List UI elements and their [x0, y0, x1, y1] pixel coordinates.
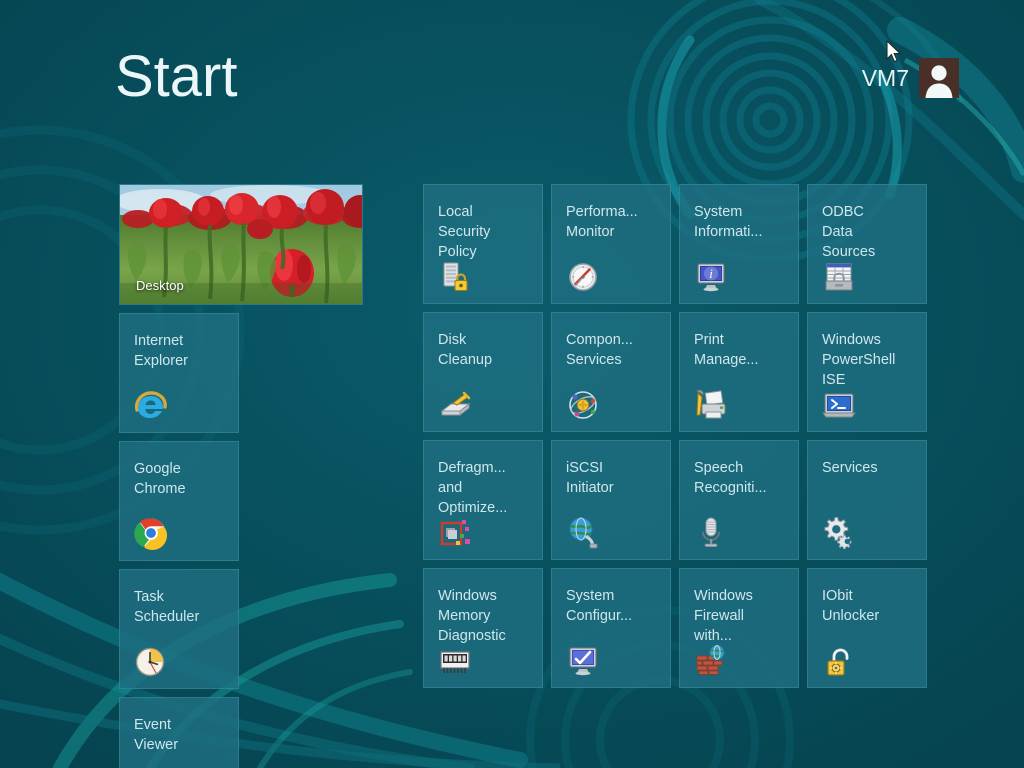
iscsi-initiator-icon	[566, 515, 600, 549]
print-management-icon	[694, 387, 728, 421]
tile-compon-services[interactable]: Compon...Services	[551, 312, 671, 432]
tile-odbc-data-sources[interactable]: ODBCDataSources	[807, 184, 927, 304]
tile-label: GoogleChrome	[134, 459, 230, 499]
local-security-policy-icon	[438, 259, 472, 293]
tile-label: SystemInformati...	[694, 202, 790, 242]
user-name-label: VM7	[862, 67, 909, 90]
tile-group-2: LocalSecurityPolicy Performa...Monitor S…	[423, 184, 935, 768]
google-chrome-icon	[134, 516, 168, 550]
powershell-ise-icon	[822, 387, 856, 421]
disk-cleanup-icon	[438, 387, 472, 421]
tile-label: TaskScheduler	[134, 587, 230, 627]
tile-speech-recogniti[interactable]: SpeechRecogniti...	[679, 440, 799, 560]
tile-label: Services	[822, 458, 918, 478]
tile-event-viewer[interactable]: EventViewer !	[119, 697, 239, 768]
tile-local-security-policy[interactable]: LocalSecurityPolicy	[423, 184, 543, 304]
tile-task-scheduler[interactable]: TaskScheduler	[119, 569, 239, 689]
performance-monitor-gauge-icon	[566, 259, 600, 293]
tile-label: SpeechRecogniti...	[694, 458, 790, 498]
odbc-data-sources-icon	[822, 259, 856, 293]
tile-performa-monitor[interactable]: Performa...Monitor	[551, 184, 671, 304]
tile-windows-firewall-with[interactable]: WindowsFirewallwith...	[679, 568, 799, 688]
tile-label: LocalSecurityPolicy	[438, 202, 534, 262]
user-account-area[interactable]: VM7	[862, 58, 959, 98]
tile-label: Performa...Monitor	[566, 202, 662, 242]
component-services-icon	[566, 387, 600, 421]
tile-iobit-unlocker[interactable]: IObitUnlocker	[807, 568, 927, 688]
tile-disk-cleanup[interactable]: DiskCleanup	[423, 312, 543, 432]
avatar[interactable]	[919, 58, 959, 98]
tile-label: WindowsPowerShellISE	[822, 330, 918, 390]
tile-grid: DesktopInternetExplorer GoogleChrome Tas…	[119, 184, 935, 768]
speech-recognition-mic-icon	[694, 515, 728, 549]
tile-system-configur[interactable]: SystemConfigur...	[551, 568, 671, 688]
tile-label: PrintManage...	[694, 330, 790, 370]
memory-diagnostic-icon	[438, 643, 472, 677]
tile-windows-memory-diagnostic[interactable]: WindowsMemoryDiagnostic	[423, 568, 543, 688]
services-gears-icon	[822, 515, 856, 549]
tile-label: ODBCDataSources	[822, 202, 918, 262]
tile-label: Desktop	[136, 278, 184, 293]
system-information-icon: i	[694, 259, 728, 293]
system-configuration-icon	[566, 643, 600, 677]
tile-label: IObitUnlocker	[822, 586, 918, 626]
windows-firewall-icon	[694, 643, 728, 677]
tile-iscsi-initiator[interactable]: iSCSIInitiator	[551, 440, 671, 560]
tile-google-chrome[interactable]: GoogleChrome	[119, 441, 239, 561]
defragment-icon	[438, 515, 472, 549]
tile-system-informati[interactable]: SystemInformati... i	[679, 184, 799, 304]
tile-services[interactable]: Services	[807, 440, 927, 560]
tile-group-1: DesktopInternetExplorer GoogleChrome Tas…	[119, 184, 371, 768]
internet-explorer-icon	[134, 388, 168, 422]
tile-desktop[interactable]: Desktop	[119, 184, 363, 305]
tile-label: SystemConfigur...	[566, 586, 662, 626]
user-silhouette-icon	[919, 58, 959, 98]
tile-label: WindowsFirewallwith...	[694, 586, 790, 646]
tile-label: EventViewer	[134, 715, 230, 755]
tile-label: Compon...Services	[566, 330, 662, 370]
tile-label: DiskCleanup	[438, 330, 534, 370]
tile-print-manage[interactable]: PrintManage...	[679, 312, 799, 432]
start-header: Start VM7	[0, 0, 1024, 160]
page-title: Start	[115, 48, 238, 106]
tile-label: InternetExplorer	[134, 331, 230, 371]
tile-label: WindowsMemoryDiagnostic	[438, 586, 534, 646]
task-scheduler-clock-icon	[134, 644, 168, 678]
tile-windows-powershell-ise[interactable]: WindowsPowerShellISE	[807, 312, 927, 432]
tile-label: Defragm...andOptimize...	[438, 458, 534, 518]
tile-label: iSCSIInitiator	[566, 458, 662, 498]
mouse-pointer-icon	[886, 40, 902, 69]
tile-internet-explorer[interactable]: InternetExplorer	[119, 313, 239, 433]
svg-text:i: i	[709, 266, 713, 281]
iobit-unlocker-icon	[822, 643, 856, 677]
tile-defragm-and-optimize[interactable]: Defragm...andOptimize...	[423, 440, 543, 560]
